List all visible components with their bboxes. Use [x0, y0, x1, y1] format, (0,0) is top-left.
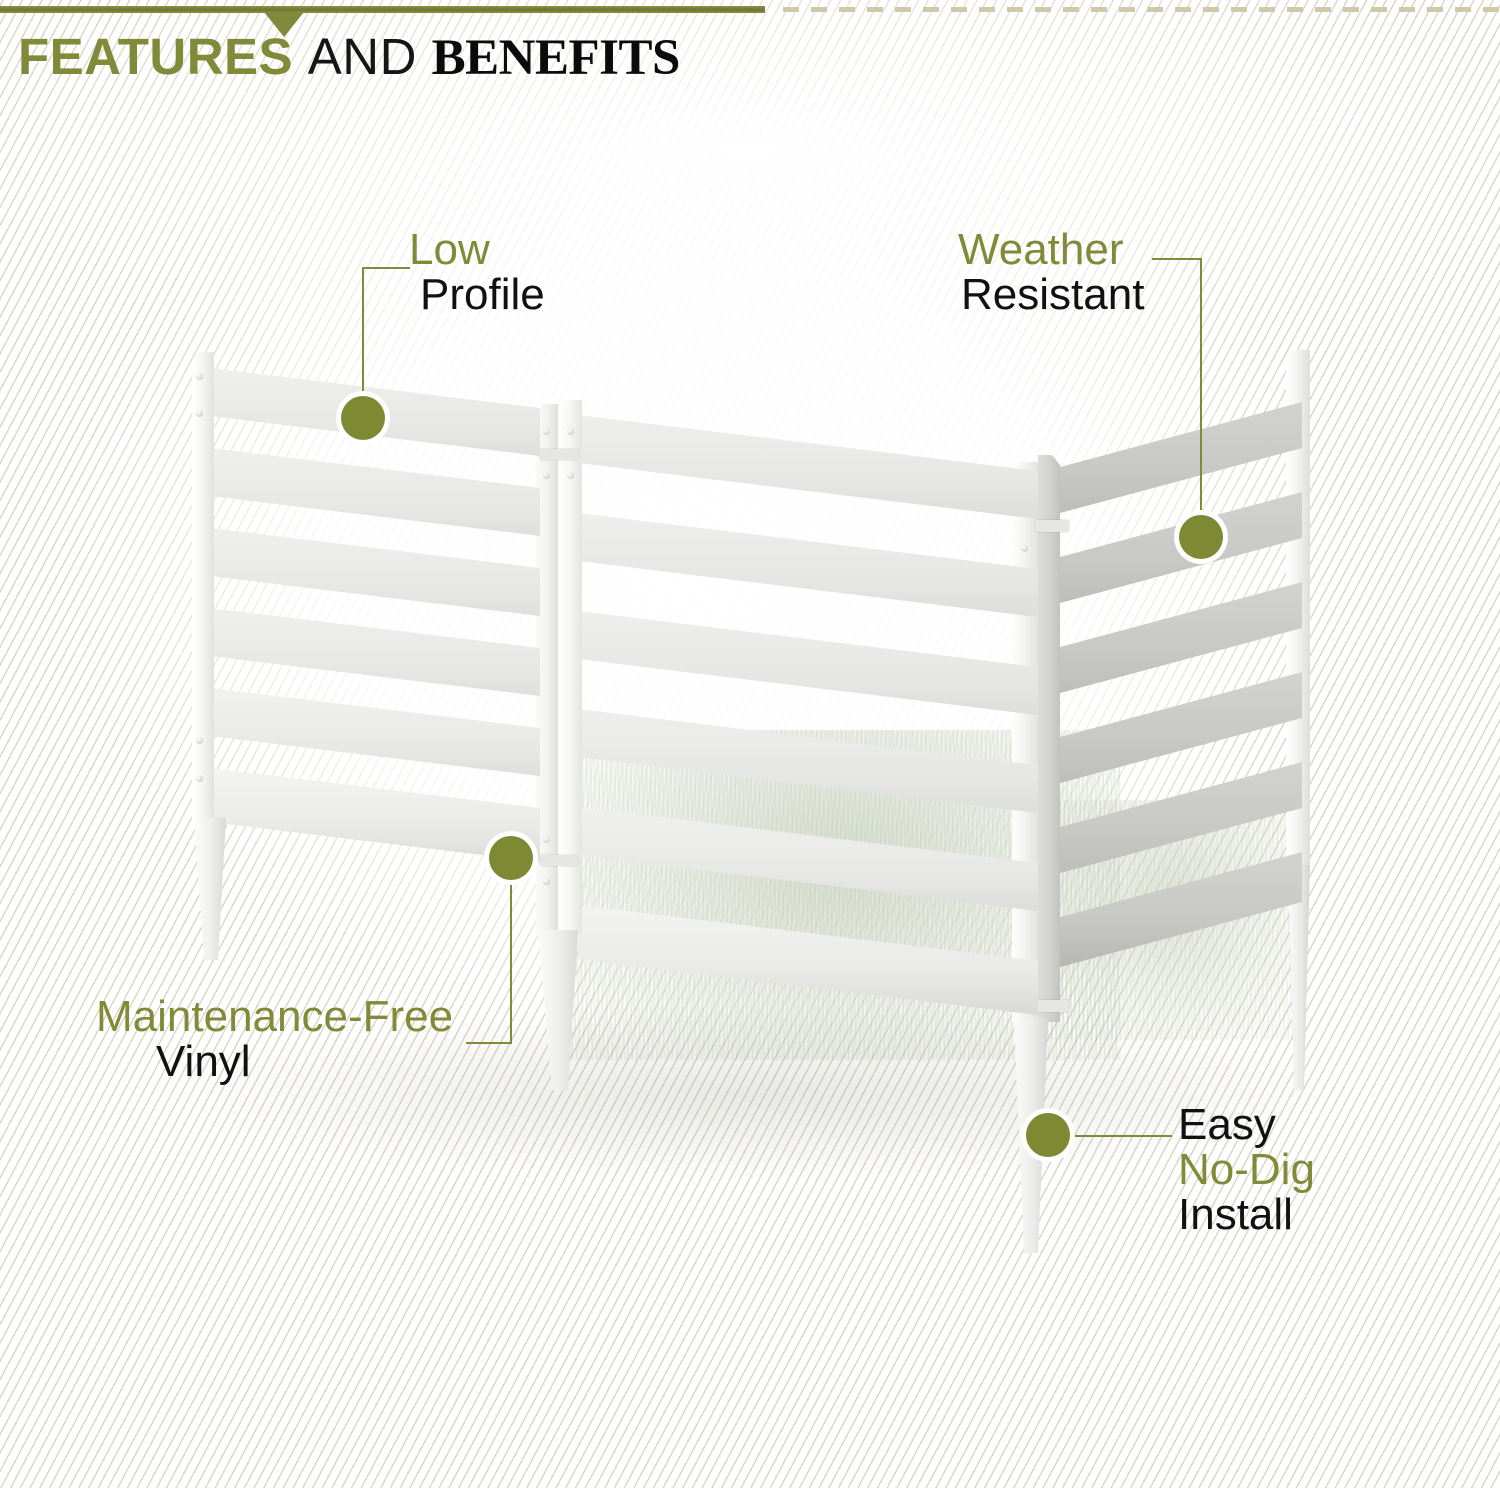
leader-line-weather-v — [1200, 258, 1202, 543]
screw-center-3 — [543, 472, 550, 479]
callout-easy-line1: Easy — [1178, 1103, 1315, 1148]
screw-center-1 — [543, 428, 550, 435]
fence-post-left-end — [192, 352, 214, 822]
callout-dot-maintenance[interactable] — [489, 836, 533, 880]
leader-line-maintenance-h — [466, 1042, 512, 1044]
callout-easy-line3: Install — [1178, 1193, 1315, 1238]
callout-dot-easy-install[interactable] — [1026, 1113, 1070, 1157]
fence-stake-left-end — [194, 818, 226, 960]
fence-slat-m1 — [578, 415, 1038, 539]
screw-center-5 — [543, 836, 550, 843]
hinge-center-lower — [540, 855, 578, 866]
screw-left-2 — [196, 410, 203, 417]
screw-center-2 — [567, 428, 574, 435]
callout-dot-weather[interactable] — [1179, 515, 1223, 559]
leader-line-weather-h — [1152, 258, 1202, 260]
hinge-center-upper — [540, 449, 578, 460]
leader-line-easy-h — [1072, 1135, 1172, 1137]
fence-slat-r1 — [1034, 402, 1302, 514]
fence-post-center-right — [558, 400, 582, 934]
screw-left-4 — [196, 775, 203, 782]
leader-line-maintenance-v — [510, 862, 512, 1043]
fence-post-corner-back — [1038, 455, 1060, 1022]
callout-maintenance-line1: Maintenance-Free — [96, 995, 453, 1040]
leader-line-low-profile-h — [362, 267, 410, 269]
screw-center-6 — [543, 878, 550, 885]
screw-left-3 — [196, 737, 203, 744]
callout-weather-resistant: Weather Resistant — [958, 228, 1144, 318]
callout-weather-line1: Weather — [958, 228, 1144, 273]
product-illustration — [0, 0, 1500, 1488]
callout-easy-line2: No-Dig — [1178, 1148, 1315, 1193]
callout-maintenance-free-vinyl: Maintenance-Free Vinyl — [96, 995, 453, 1085]
callout-low-profile: Low Profile — [409, 228, 545, 318]
callout-maintenance-line2: Vinyl — [156, 1040, 453, 1085]
callout-dot-low-profile[interactable] — [341, 396, 385, 440]
fence-slat-m2 — [578, 513, 1038, 637]
callout-easy-no-dig-install: Easy No-Dig Install — [1178, 1103, 1315, 1238]
screw-corner-2 — [1021, 545, 1028, 552]
screw-center-4 — [567, 472, 574, 479]
screw-left-1 — [196, 373, 203, 380]
hinge-lower — [1035, 1000, 1069, 1012]
fence-slat-m3 — [578, 611, 1038, 735]
callout-weather-line2: Resistant — [961, 273, 1144, 318]
callout-low-profile-line1: Low — [409, 228, 545, 273]
callout-low-profile-line2: Profile — [420, 273, 545, 318]
hinge-upper — [1035, 520, 1069, 532]
